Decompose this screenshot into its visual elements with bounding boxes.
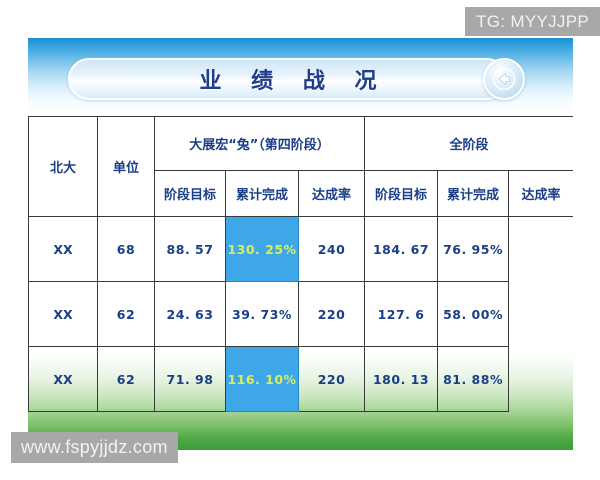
cell-stage-target-1: 68 [98, 217, 155, 282]
cell-accumulated-1: 88. 57 [155, 217, 226, 282]
cell-stage-target-2: 240 [299, 217, 365, 282]
slide-banner: 业 绩 战 况 [28, 38, 573, 116]
page-title: 业 绩 战 况 [68, 58, 508, 100]
cell-rate-1: 39. 73% [226, 282, 299, 347]
cell-unit: XX [29, 217, 98, 282]
table-header-rate-2: 达成率 [509, 171, 573, 217]
cell-stage-target-2: 220 [299, 347, 365, 412]
presentation-slide: 业 绩 战 况 北大 单位 大展宏“兔”（第四阶段） 全阶段 [28, 38, 573, 450]
cell-accumulated-2: 184. 67 [365, 217, 438, 282]
cell-rate-2: 81. 88% [438, 347, 509, 412]
cell-accumulated-2: 127. 6 [365, 282, 438, 347]
cell-rate-2: 58. 00% [438, 282, 509, 347]
table-row: XX 68 88. 57 130. 25% 240 184. 67 76. 95… [29, 217, 574, 282]
table-header-row-groups: 北大 单位 大展宏“兔”（第四阶段） 全阶段 [29, 117, 574, 171]
cell-accumulated-1: 71. 98 [155, 347, 226, 412]
table-header-accumulated-1: 累计完成 [226, 171, 299, 217]
table-header-accumulated-2: 累计完成 [438, 171, 509, 217]
cell-rate-1: 116. 10% [226, 347, 299, 412]
performance-table: 北大 单位 大展宏“兔”（第四阶段） 全阶段 阶段目标 累计完成 达成率 阶段目… [28, 116, 573, 412]
cell-unit: XX [29, 282, 98, 347]
table-header-stage-target-1: 阶段目标 [155, 171, 226, 217]
cell-stage-target-1: 62 [98, 347, 155, 412]
cell-unit: XX [29, 347, 98, 412]
table-header-rate-1: 达成率 [299, 171, 365, 217]
table-cell-org-name: 北大 [29, 117, 98, 217]
table-header-group-1: 大展宏“兔”（第四阶段） [155, 117, 365, 171]
watermark-website: www.fspyjjdz.com [11, 432, 178, 463]
watermark-telegram: TG: MYYJJPP [465, 7, 600, 36]
table-row: XX 62 71. 98 116. 10% 220 180. 13 81. 88… [29, 347, 574, 412]
table-header-stage-target-2: 阶段目标 [365, 171, 438, 217]
cell-rate-1: 130. 25% [226, 217, 299, 282]
screenshot-root: 业 绩 战 况 北大 单位 大展宏“兔”（第四阶段） 全阶段 [0, 0, 600, 480]
table-header-unit: 单位 [98, 117, 155, 217]
table-header-group-2: 全阶段 [365, 117, 573, 171]
table-row: XX 62 24. 63 39. 73% 220 127. 6 58. 00% [29, 282, 574, 347]
cell-stage-target-1: 62 [98, 282, 155, 347]
cell-accumulated-2: 180. 13 [365, 347, 438, 412]
cell-accumulated-1: 24. 63 [155, 282, 226, 347]
arrow-left-circle-icon[interactable] [483, 58, 525, 100]
cell-stage-target-2: 220 [299, 282, 365, 347]
cell-rate-2: 76. 95% [438, 217, 509, 282]
